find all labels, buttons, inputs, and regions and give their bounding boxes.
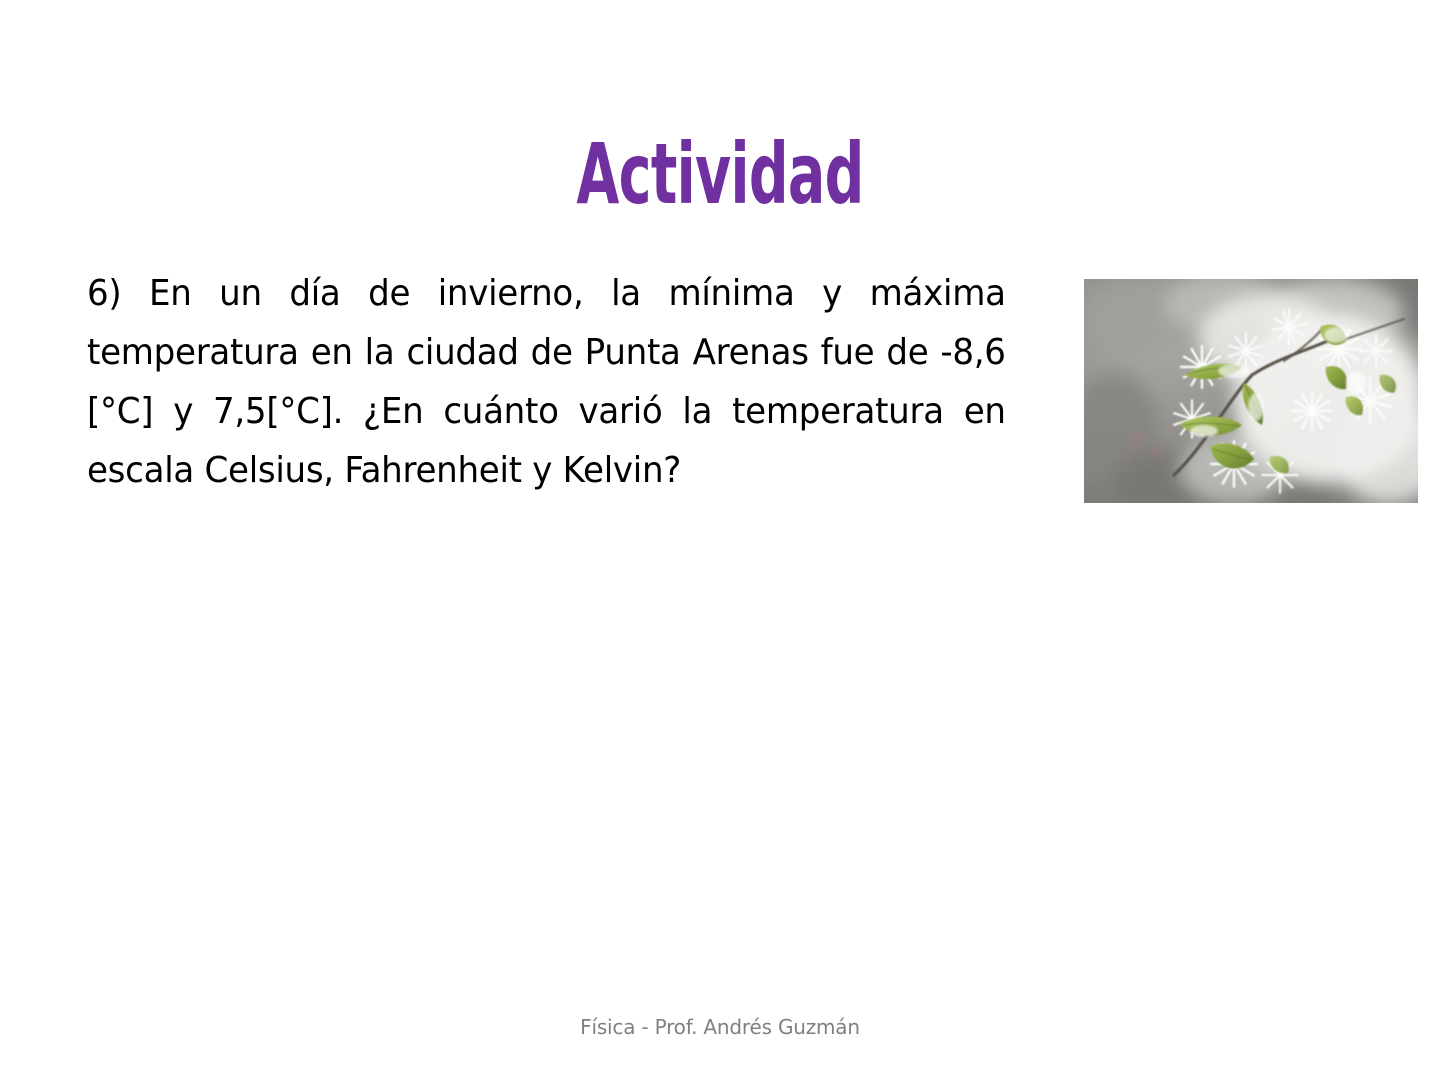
question-paragraph: 6) En un día de invierno, la mínima y má…: [87, 264, 1006, 500]
slide-footer: Física - Prof. Andrés Guzmán: [0, 1015, 1440, 1039]
page-title: Actividad: [245, 130, 1195, 218]
frost-leaves-image: [1084, 279, 1418, 503]
body-text-block: 6) En un día de invierno, la mínima y má…: [87, 264, 1044, 500]
slide-canvas: Actividad 6) En un día de invierno, la m…: [0, 0, 1440, 1080]
frost-leaves-illustration: [1084, 279, 1418, 503]
